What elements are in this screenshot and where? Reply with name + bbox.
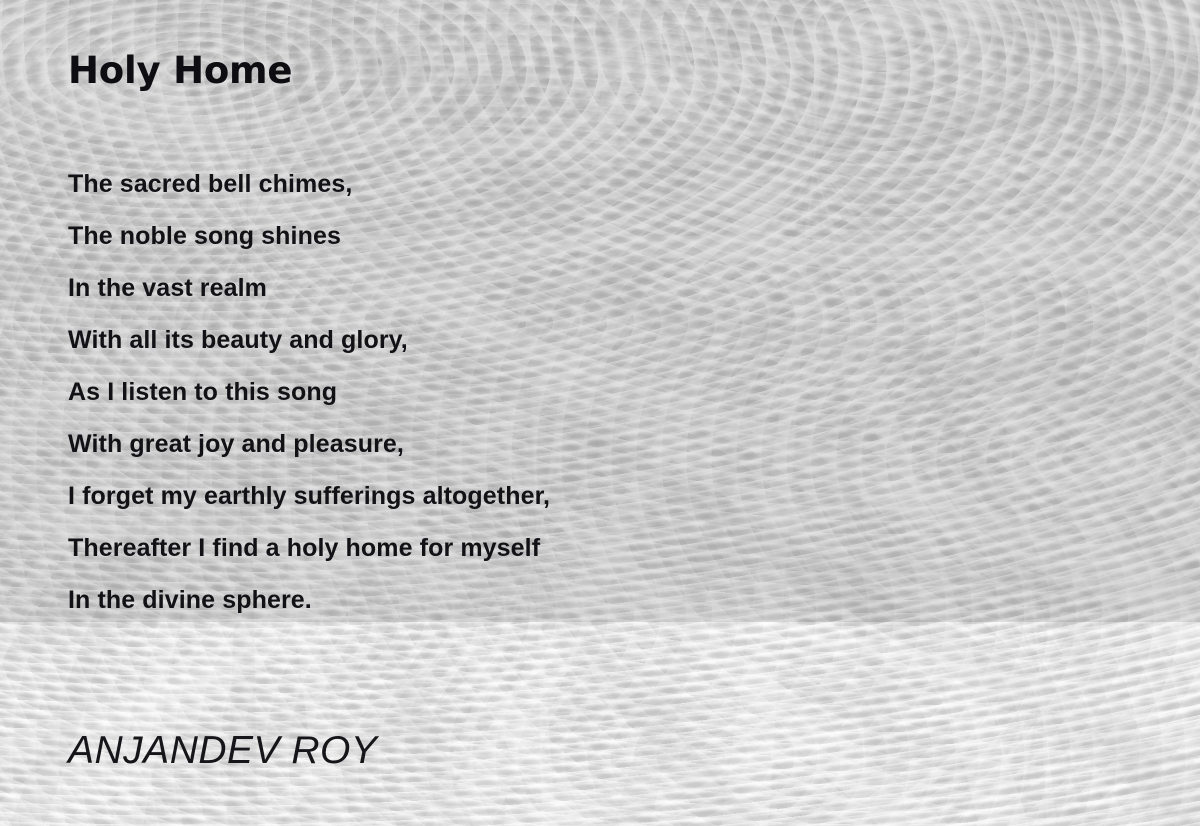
poem-author-byline: ANJANDEV ROY: [68, 729, 377, 773]
poem-body: The sacred bell chimes, The noble song s…: [68, 158, 1128, 626]
poem-content: Holy Home The sacred bell chimes, The no…: [0, 0, 1200, 826]
poem-line: In the vast realm: [68, 262, 1128, 314]
poem-line: The sacred bell chimes,: [68, 158, 1128, 210]
poem-line: With all its beauty and glory,: [68, 314, 1128, 366]
poem-line: In the divine sphere.: [68, 574, 1128, 626]
poem-title: Holy Home: [68, 50, 292, 93]
poem-line: As I listen to this song: [68, 366, 1128, 418]
poem-line: With great joy and pleasure,: [68, 418, 1128, 470]
poem-image-card: Holy Home The sacred bell chimes, The no…: [0, 0, 1200, 826]
poem-line: Thereafter I find a holy home for myself: [68, 522, 1128, 574]
poem-line: The noble song shines: [68, 210, 1128, 262]
poem-line: I forget my earthly sufferings altogethe…: [68, 470, 1128, 522]
